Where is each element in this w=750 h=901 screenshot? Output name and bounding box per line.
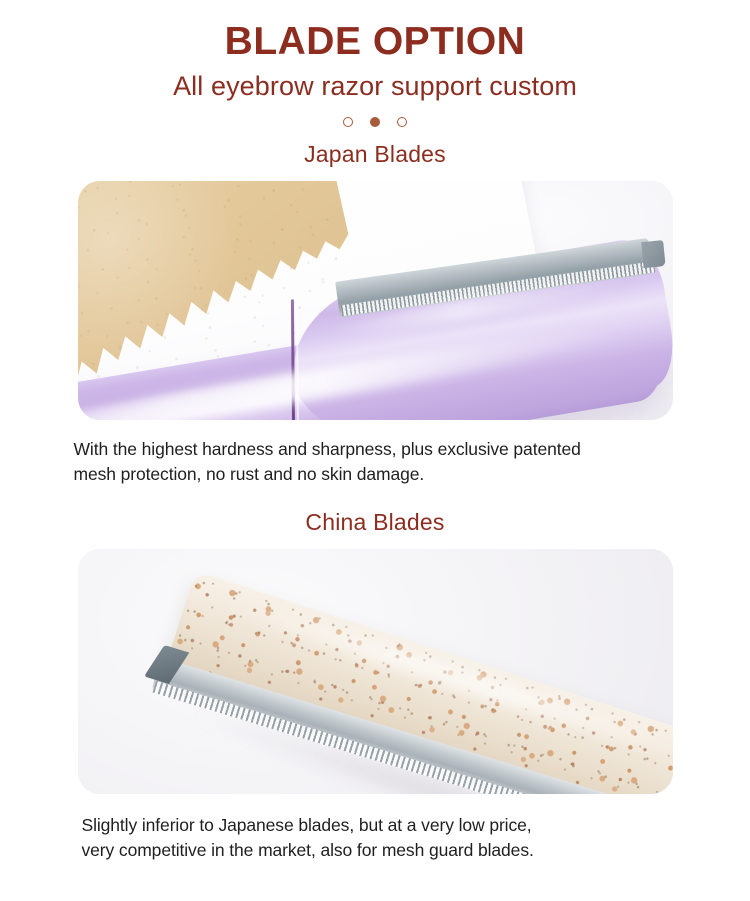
caption-line: very competitive in the market, also for…	[82, 838, 683, 863]
caption-line: With the highest hardness and sharpness,…	[74, 437, 683, 462]
section-title-japan-blades: Japan Blades	[0, 141, 750, 168]
product-detail-page: BLADE OPTION All eyebrow razor support c…	[0, 0, 750, 901]
china-blades-photo	[78, 549, 673, 794]
caption-line: Slightly inferior to Japanese blades, bu…	[82, 813, 683, 838]
page-subtitle: All eyebrow razor support custom	[0, 70, 750, 102]
carousel-dot-3[interactable]	[397, 117, 407, 127]
razor-blade-tip	[641, 240, 665, 268]
japan-blades-image	[78, 181, 673, 420]
china-blades-caption: Slightly inferior to Japanese blades, bu…	[68, 813, 683, 863]
carousel-dots	[0, 115, 750, 129]
japan-blades-photo	[78, 181, 673, 420]
page-title: BLADE OPTION	[0, 20, 750, 64]
china-blades-image	[78, 549, 673, 794]
carousel-dot-1[interactable]	[343, 117, 353, 127]
carousel-dot-2-active[interactable]	[370, 117, 380, 127]
page-header: BLADE OPTION All eyebrow razor support c…	[0, 0, 750, 129]
japan-blades-caption: With the highest hardness and sharpness,…	[68, 437, 683, 487]
caption-line: mesh protection, no rust and no skin dam…	[74, 462, 683, 487]
section-title-china-blades: China Blades	[0, 509, 750, 536]
